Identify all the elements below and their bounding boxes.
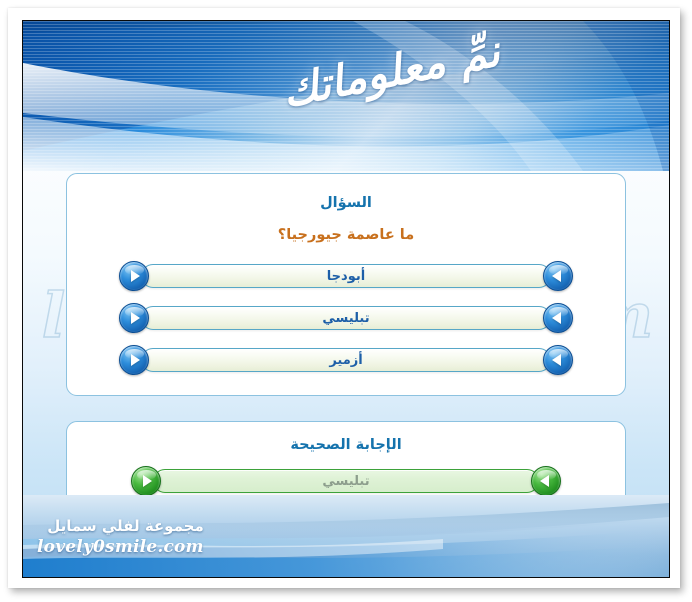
footer-arabic-text: مجموعة لفلي سمايل	[37, 517, 204, 535]
option-label-1: أبودجا	[327, 270, 365, 283]
triangle-right-glyph	[143, 475, 152, 487]
option-label-2: تبليسي	[322, 312, 369, 325]
footer-credit: مجموعة لفلي سمايل lovely0smile.com	[37, 517, 204, 557]
triangle-left-glyph	[552, 312, 561, 324]
triangle-right-glyph	[131, 270, 140, 282]
question-card-title: السؤال	[67, 195, 625, 211]
play-right-icon[interactable]	[131, 466, 161, 496]
triangle-left-glyph	[540, 475, 549, 487]
play-left-icon[interactable]	[543, 303, 573, 333]
play-left-icon[interactable]	[531, 466, 561, 496]
option-row-3[interactable]: أزمير	[119, 345, 573, 375]
option-pill-1[interactable]: أبودجا	[141, 264, 551, 288]
footer-url-text: lovely0smile.com	[37, 537, 204, 557]
play-right-icon[interactable]	[119, 261, 149, 291]
answer-label: تبليسي	[322, 475, 369, 488]
triangle-left-glyph	[552, 270, 561, 282]
answer-row[interactable]: تبليسي	[131, 466, 561, 496]
answer-pill[interactable]: تبليسي	[153, 469, 539, 493]
page-frame: نمِّ معلوماتك lovely0smile.com السؤال ما…	[0, 0, 692, 602]
triangle-right-glyph	[131, 354, 140, 366]
play-right-icon[interactable]	[119, 345, 149, 375]
option-row-2[interactable]: تبليسي	[119, 303, 573, 333]
play-left-icon[interactable]	[543, 261, 573, 291]
option-pill-2[interactable]: تبليسي	[141, 306, 551, 330]
footer-banner: مجموعة لفلي سمايل lovely0smile.com	[23, 495, 669, 577]
option-row-1[interactable]: أبودجا	[119, 261, 573, 291]
option-label-3: أزمير	[329, 354, 362, 367]
answer-card-title: الإجابة الصحيحة	[67, 437, 625, 453]
play-left-icon[interactable]	[543, 345, 573, 375]
triangle-right-glyph	[131, 312, 140, 324]
triangle-left-glyph	[552, 354, 561, 366]
header-banner: نمِّ معلوماتك	[23, 21, 669, 171]
app-window: نمِّ معلوماتك lovely0smile.com السؤال ما…	[22, 20, 670, 578]
play-right-icon[interactable]	[119, 303, 149, 333]
question-text: ما عاصمة جيورجيا؟	[67, 227, 625, 243]
question-card: السؤال ما عاصمة جيورجيا؟ أبودجا	[66, 173, 626, 396]
options-list: أبودجا تبليسي	[67, 261, 625, 375]
option-pill-3[interactable]: أزمير	[141, 348, 551, 372]
